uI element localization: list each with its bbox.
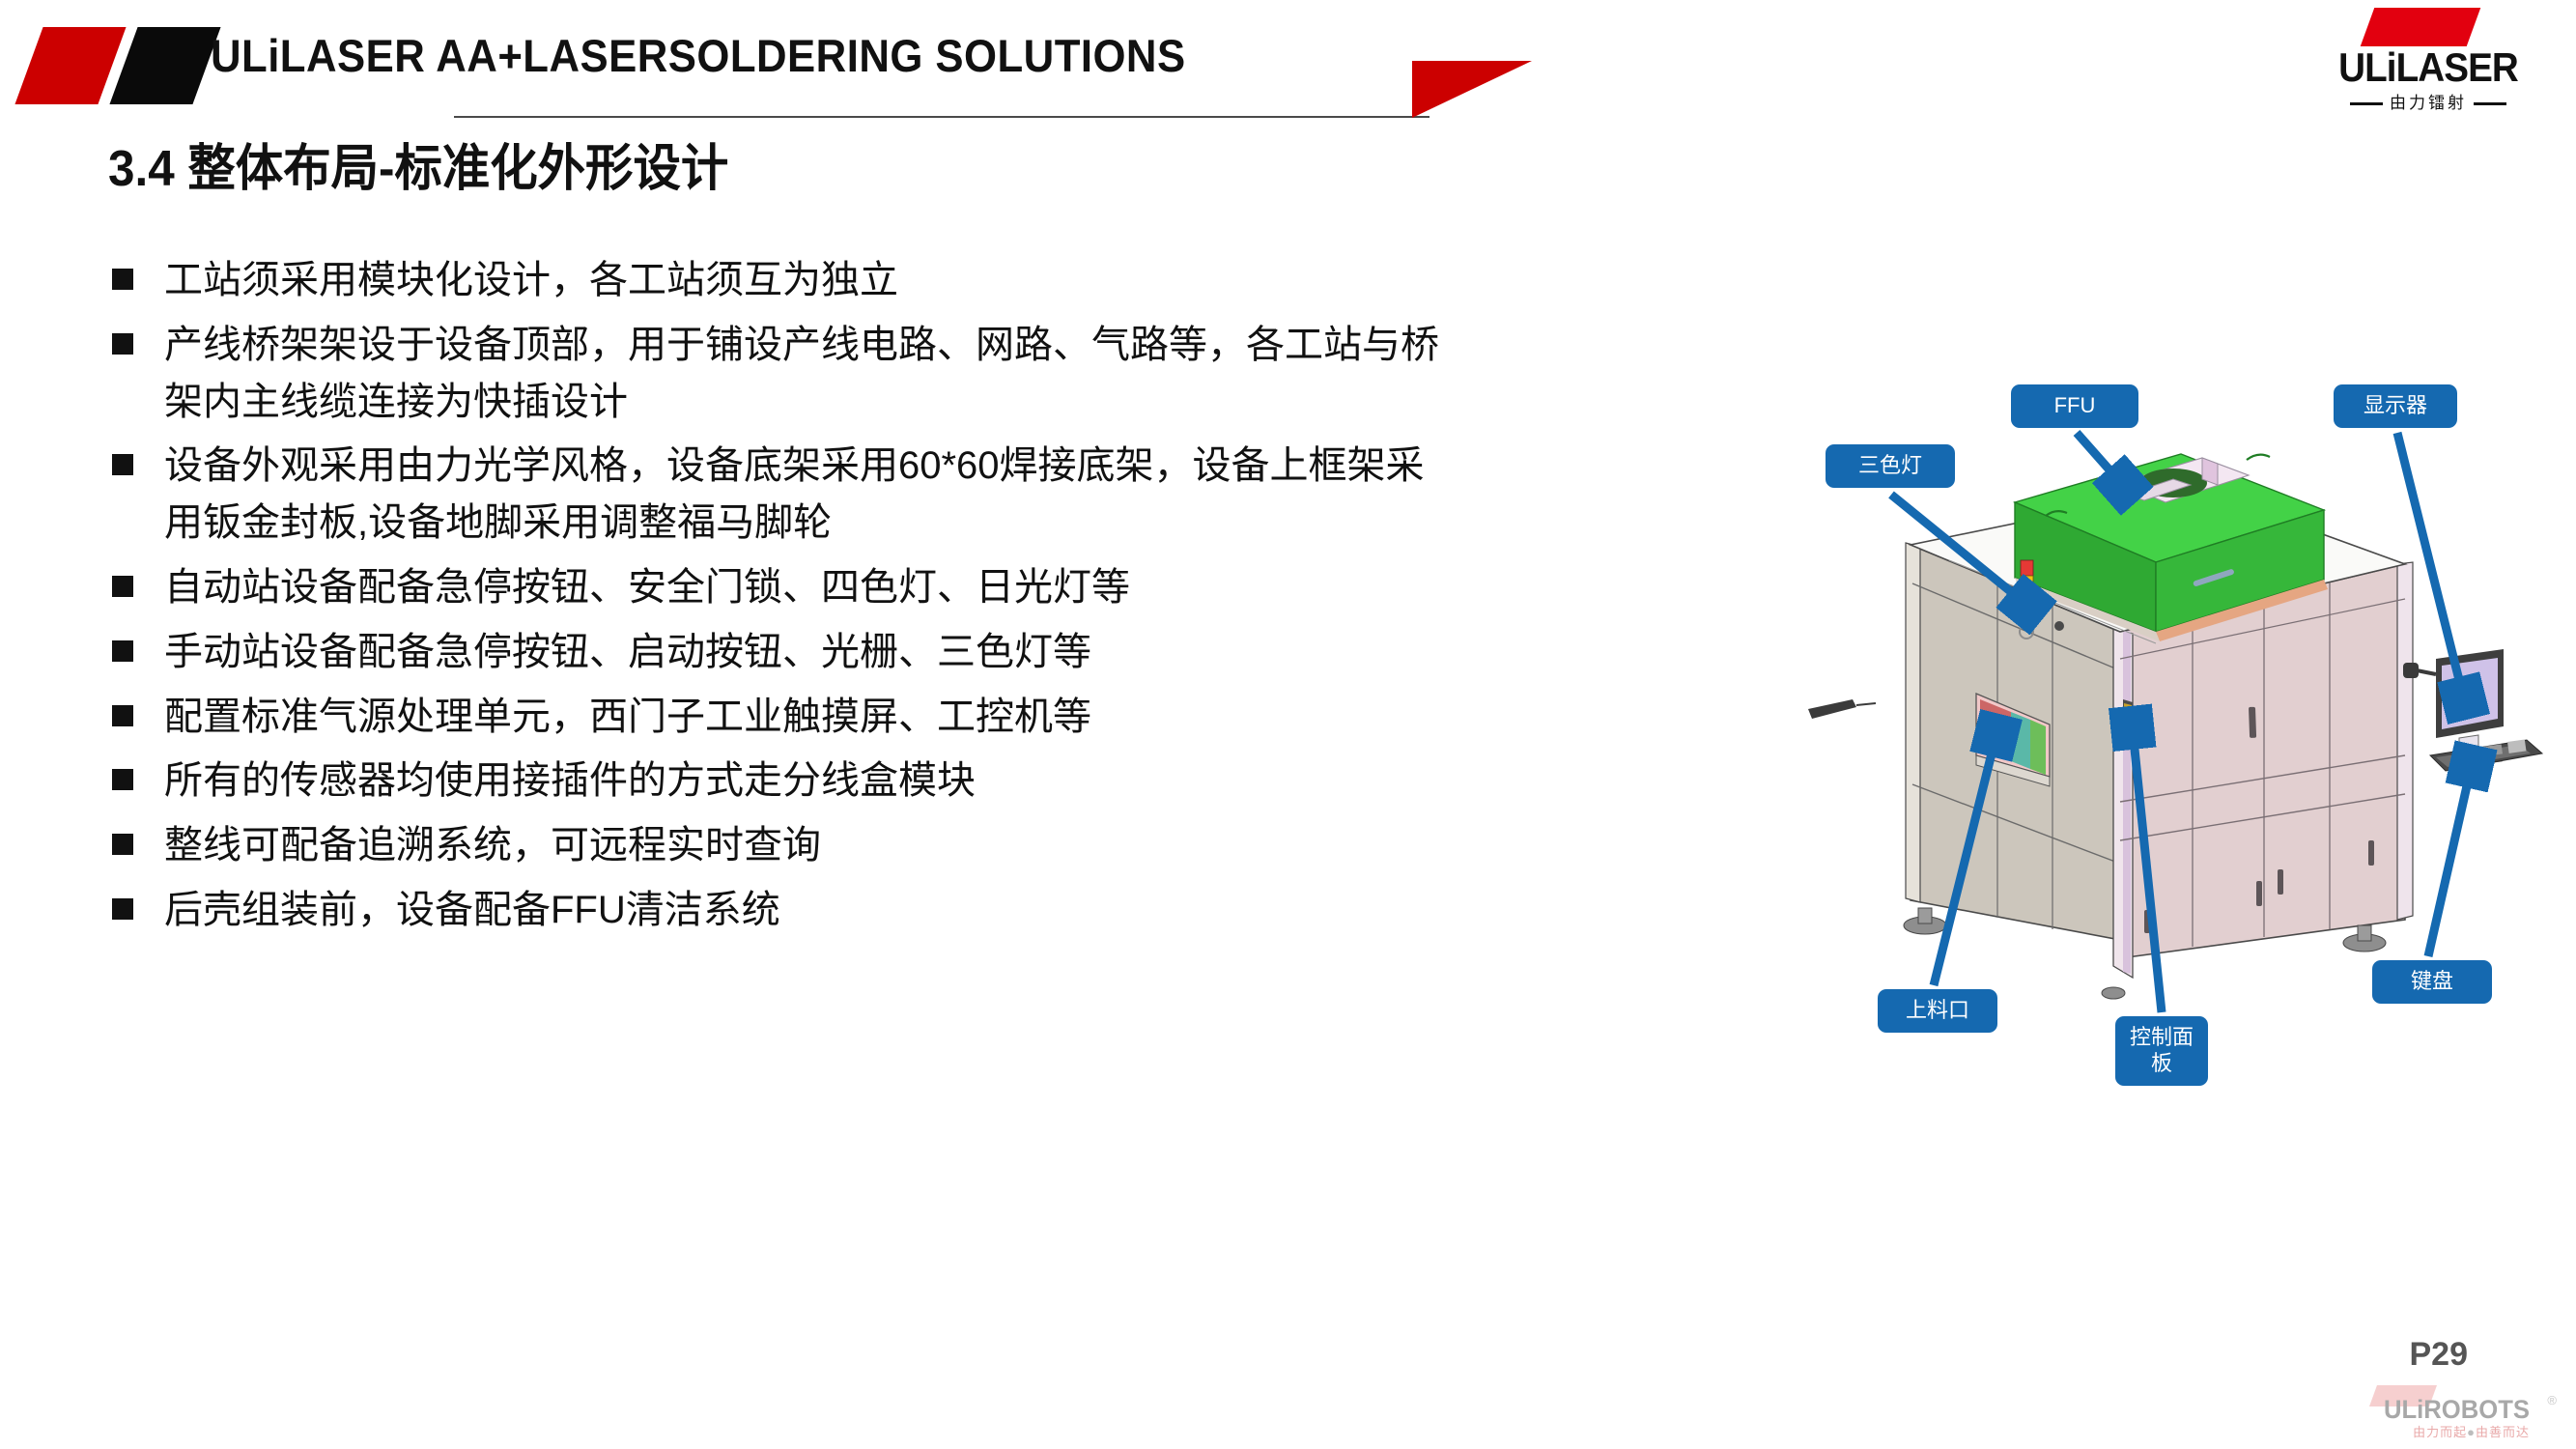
watermark-sub-right: 由善而达 [2476, 1425, 2530, 1439]
watermark-sub-left: 由力而起 [2413, 1425, 2467, 1439]
control-panel-strip [2123, 699, 2133, 744]
bullet-line: 工站须采用模块化设计，各工站须互为独立 [164, 253, 1785, 308]
list-item: 设备外观采用由力光学风格，设备底架采用60*60焊接底架，设备上框架采 用钣金封… [104, 439, 1785, 551]
list-item: 自动站设备配备急停按钮、安全门锁、四色灯、日光灯等 [104, 560, 1785, 615]
watermark-wordmark: ULiROBOTS [2282, 1395, 2531, 1425]
bullet-line: 自动站设备配备急停按钮、安全门锁、四色灯、日光灯等 [164, 560, 1785, 615]
list-item: 整线可配备追溯系统，可远程实时查询 [104, 818, 1785, 873]
slide-header: ULiLASER AA+LASERSOLDERING SOLUTIONS ULi… [0, 0, 2576, 126]
logo-red-mark [2361, 8, 2481, 46]
bullet-line: 设备外观采用由力光学风格，设备底架采用60*60焊接底架，设备上框架采 [164, 439, 1785, 494]
header-red-triangle [1412, 61, 1532, 118]
bullet-line: 产线桥架架设于设备顶部，用于铺设产线电路、网路、气路等，各工站与桥 [164, 318, 1785, 373]
callout-ffu[interactable]: FFU [2011, 384, 2138, 428]
bullet-line: 后壳组装前，设备配备FFU清洁系统 [164, 883, 1785, 938]
bullet-square-icon [112, 898, 133, 920]
bullet-list: 工站须采用模块化设计，各工站须互为独立 产线桥架架设于设备顶部，用于铺设产线电路… [104, 253, 1785, 948]
bullet-square-icon [112, 576, 133, 597]
logo-subtitle-text: 由力镭射 [2390, 94, 2467, 112]
company-logo: ULiLASER 由力镭射 [2307, 6, 2549, 112]
callout-label: 控制面 [2130, 1025, 2194, 1049]
header-rule [454, 116, 1430, 118]
logo-subtitle: 由力镭射 [2307, 89, 2549, 113]
callout-label: 显示器 [2364, 393, 2427, 417]
list-item: 配置标准气源处理单元，西门子工业触摸屏、工控机等 [104, 690, 1785, 745]
header-black-parallelogram [109, 27, 220, 104]
equipment-diagram: 三色灯 FFU 显示器 上料口 控制面 板 键盘 [1787, 340, 2560, 1113]
bullet-square-icon [112, 269, 133, 290]
bullet-line: 所有的传感器均使用接插件的方式走分线盒模块 [164, 753, 1785, 809]
list-item: 产线桥架架设于设备顶部，用于铺设产线电路、网路、气路等，各工站与桥 架内主线缆连… [104, 318, 1785, 430]
page-title: 3.4 整体布局-标准化外形设计 [108, 128, 728, 200]
callout-keyboard[interactable]: 键盘 [2372, 960, 2492, 1004]
callout-display[interactable]: 显示器 [2334, 384, 2457, 428]
callout-label: 键盘 [2411, 969, 2453, 993]
watermark-dot-icon: ● [2467, 1425, 2476, 1439]
bullet-line: 整线可配备追溯系统，可远程实时查询 [164, 818, 1785, 873]
bullet-line: 架内主线缆连接为快插设计 [164, 375, 1785, 430]
monitor-and-keyboard [2403, 649, 2542, 771]
bullet-square-icon [112, 769, 133, 790]
watermark-registered-icon: ® [2547, 1393, 2557, 1407]
page-number: P29 [2410, 1336, 2469, 1374]
callout-label: 三色灯 [1858, 453, 1922, 477]
callout-control-panel[interactable]: 控制面 板 [2115, 1016, 2208, 1086]
bullet-line: 用钣金封板,设备地脚采用调整福马脚轮 [164, 496, 1785, 551]
header-title: ULiLASER AA+LASERSOLDERING SOLUTIONS [211, 29, 1186, 82]
bullet-square-icon [112, 834, 133, 855]
callout-label: FFU [2054, 393, 2096, 417]
watermark-subtitle: 由力而起●由善而达 [2269, 1422, 2530, 1440]
list-item: 工站须采用模块化设计，各工站须互为独立 [104, 253, 1785, 308]
bullet-line: 手动站设备配备急停按钮、启动按钮、光栅、三色灯等 [164, 625, 1785, 680]
watermark: ULiROBOTS ® 由力而起●由善而达 [2269, 1391, 2559, 1449]
callout-label-line2: 板 [2151, 1051, 2172, 1075]
logo-wordmark: ULiLASER [2317, 44, 2539, 91]
callout-label: 上料口 [1906, 998, 1969, 1022]
bullet-square-icon [112, 640, 133, 662]
bullet-square-icon [112, 454, 133, 475]
bullet-square-icon [112, 705, 133, 726]
callout-loading-port[interactable]: 上料口 [1878, 989, 1997, 1033]
bullet-square-icon [112, 333, 133, 355]
bullet-line: 配置标准气源处理单元，西门子工业触摸屏、工控机等 [164, 690, 1785, 745]
list-item: 后壳组装前，设备配备FFU清洁系统 [104, 883, 1785, 938]
header-red-parallelogram [14, 27, 126, 104]
list-item: 所有的传感器均使用接插件的方式走分线盒模块 [104, 753, 1785, 809]
list-item: 手动站设备配备急停按钮、启动按钮、光栅、三色灯等 [104, 625, 1785, 680]
callout-tri-color-light[interactable]: 三色灯 [1826, 444, 1955, 488]
